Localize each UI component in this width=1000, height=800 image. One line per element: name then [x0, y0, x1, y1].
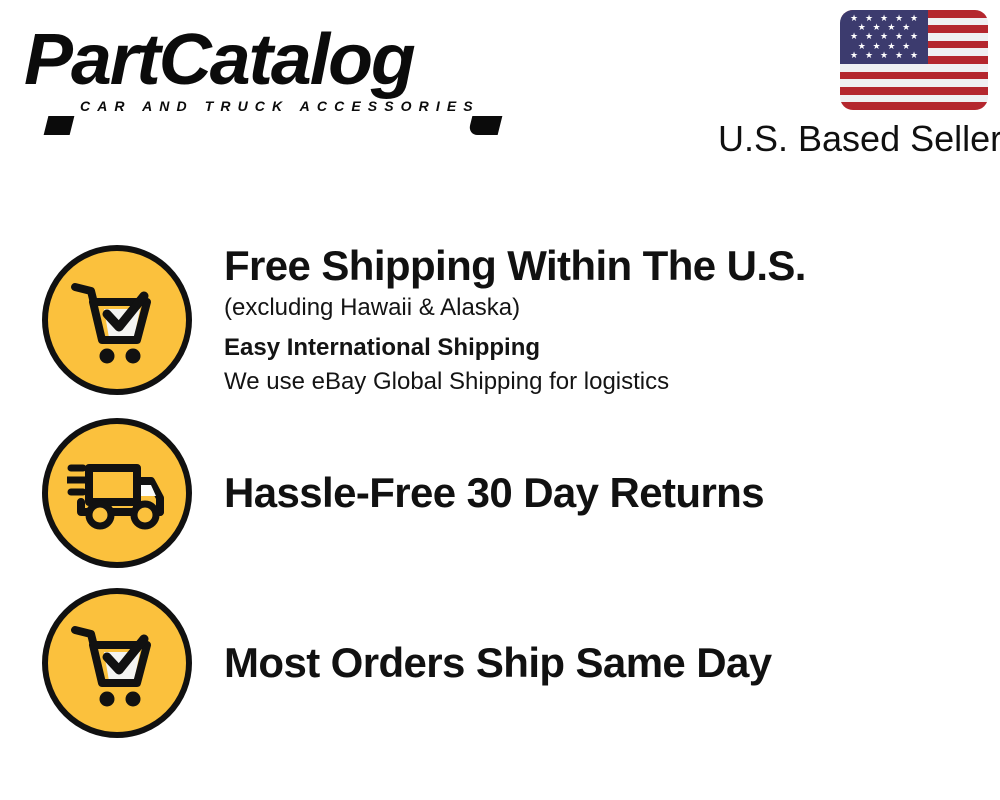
star-icon: ★: [895, 51, 903, 60]
feature-heading: Most Orders Ship Same Day: [224, 638, 772, 688]
star-icon: ★: [880, 51, 888, 60]
feature-item-returns: Hassle-Free 30 Day Returns: [0, 413, 1000, 573]
star-icon: ★: [850, 32, 858, 41]
brand-wordmark: PartCatalog: [24, 24, 503, 96]
star-icon: ★: [910, 32, 918, 41]
banner-header: PartCatalog CAR AND TRUCK ACCESSORIES: [0, 0, 1000, 180]
feature-heading: Free Shipping Within The U.S.: [224, 241, 980, 291]
star-icon: ★: [910, 14, 918, 23]
star-icon: ★: [910, 51, 918, 60]
feature-item-same-day-ship: Most Orders Ship Same Day: [0, 583, 1000, 743]
star-icon: ★: [850, 14, 858, 23]
shopping-cart-check-icon: [42, 245, 192, 395]
feature-subtext-international: Easy International Shipping: [224, 331, 980, 365]
promo-banner: PartCatalog CAR AND TRUCK ACCESSORIES: [0, 0, 1000, 800]
star-icon: ★: [865, 51, 873, 60]
star-icon: ★: [865, 32, 873, 41]
logo-accent-left: [44, 116, 75, 135]
feature-text-group: Most Orders Ship Same Day: [224, 638, 1000, 688]
feature-text-group: Free Shipping Within The U.S. (excluding…: [224, 241, 1000, 399]
feature-item-free-shipping: Free Shipping Within The U.S. (excluding…: [0, 240, 1000, 400]
brand-tagline: CAR AND TRUCK ACCESSORIES: [80, 98, 494, 114]
feature-subtext-logistics: We use eBay Global Shipping for logistic…: [224, 365, 980, 399]
flag-star-row: ★ ★ ★ ★ ★: [843, 14, 925, 23]
flag-star-field: ★ ★ ★ ★ ★ ★ ★ ★ ★ ★: [840, 10, 928, 64]
us-based-seller-badge: ★ ★ ★ ★ ★ ★ ★ ★ ★ ★: [718, 10, 988, 159]
star-icon: ★: [865, 14, 873, 23]
feature-heading: Hassle-Free 30 Day Returns: [224, 468, 764, 518]
delivery-truck-icon: [42, 418, 192, 568]
us-flag-icon: ★ ★ ★ ★ ★ ★ ★ ★ ★ ★: [840, 10, 988, 110]
feature-text-group: Hassle-Free 30 Day Returns: [224, 468, 1000, 518]
brand-logo: PartCatalog CAR AND TRUCK ACCESSORIES: [24, 24, 494, 114]
logo-accent-right: [468, 116, 503, 135]
flag-star-row: ★ ★ ★ ★ ★: [843, 51, 925, 60]
feature-subtext-exclusions: (excluding Hawaii & Alaska): [224, 291, 980, 325]
shopping-cart-check-icon: [42, 588, 192, 738]
flag-canton: ★ ★ ★ ★ ★ ★ ★ ★ ★ ★: [840, 10, 928, 64]
flag-star-row: ★ ★ ★ ★ ★: [843, 32, 925, 41]
star-icon: ★: [850, 51, 858, 60]
us-based-seller-label: U.S. Based Seller: [718, 119, 988, 159]
